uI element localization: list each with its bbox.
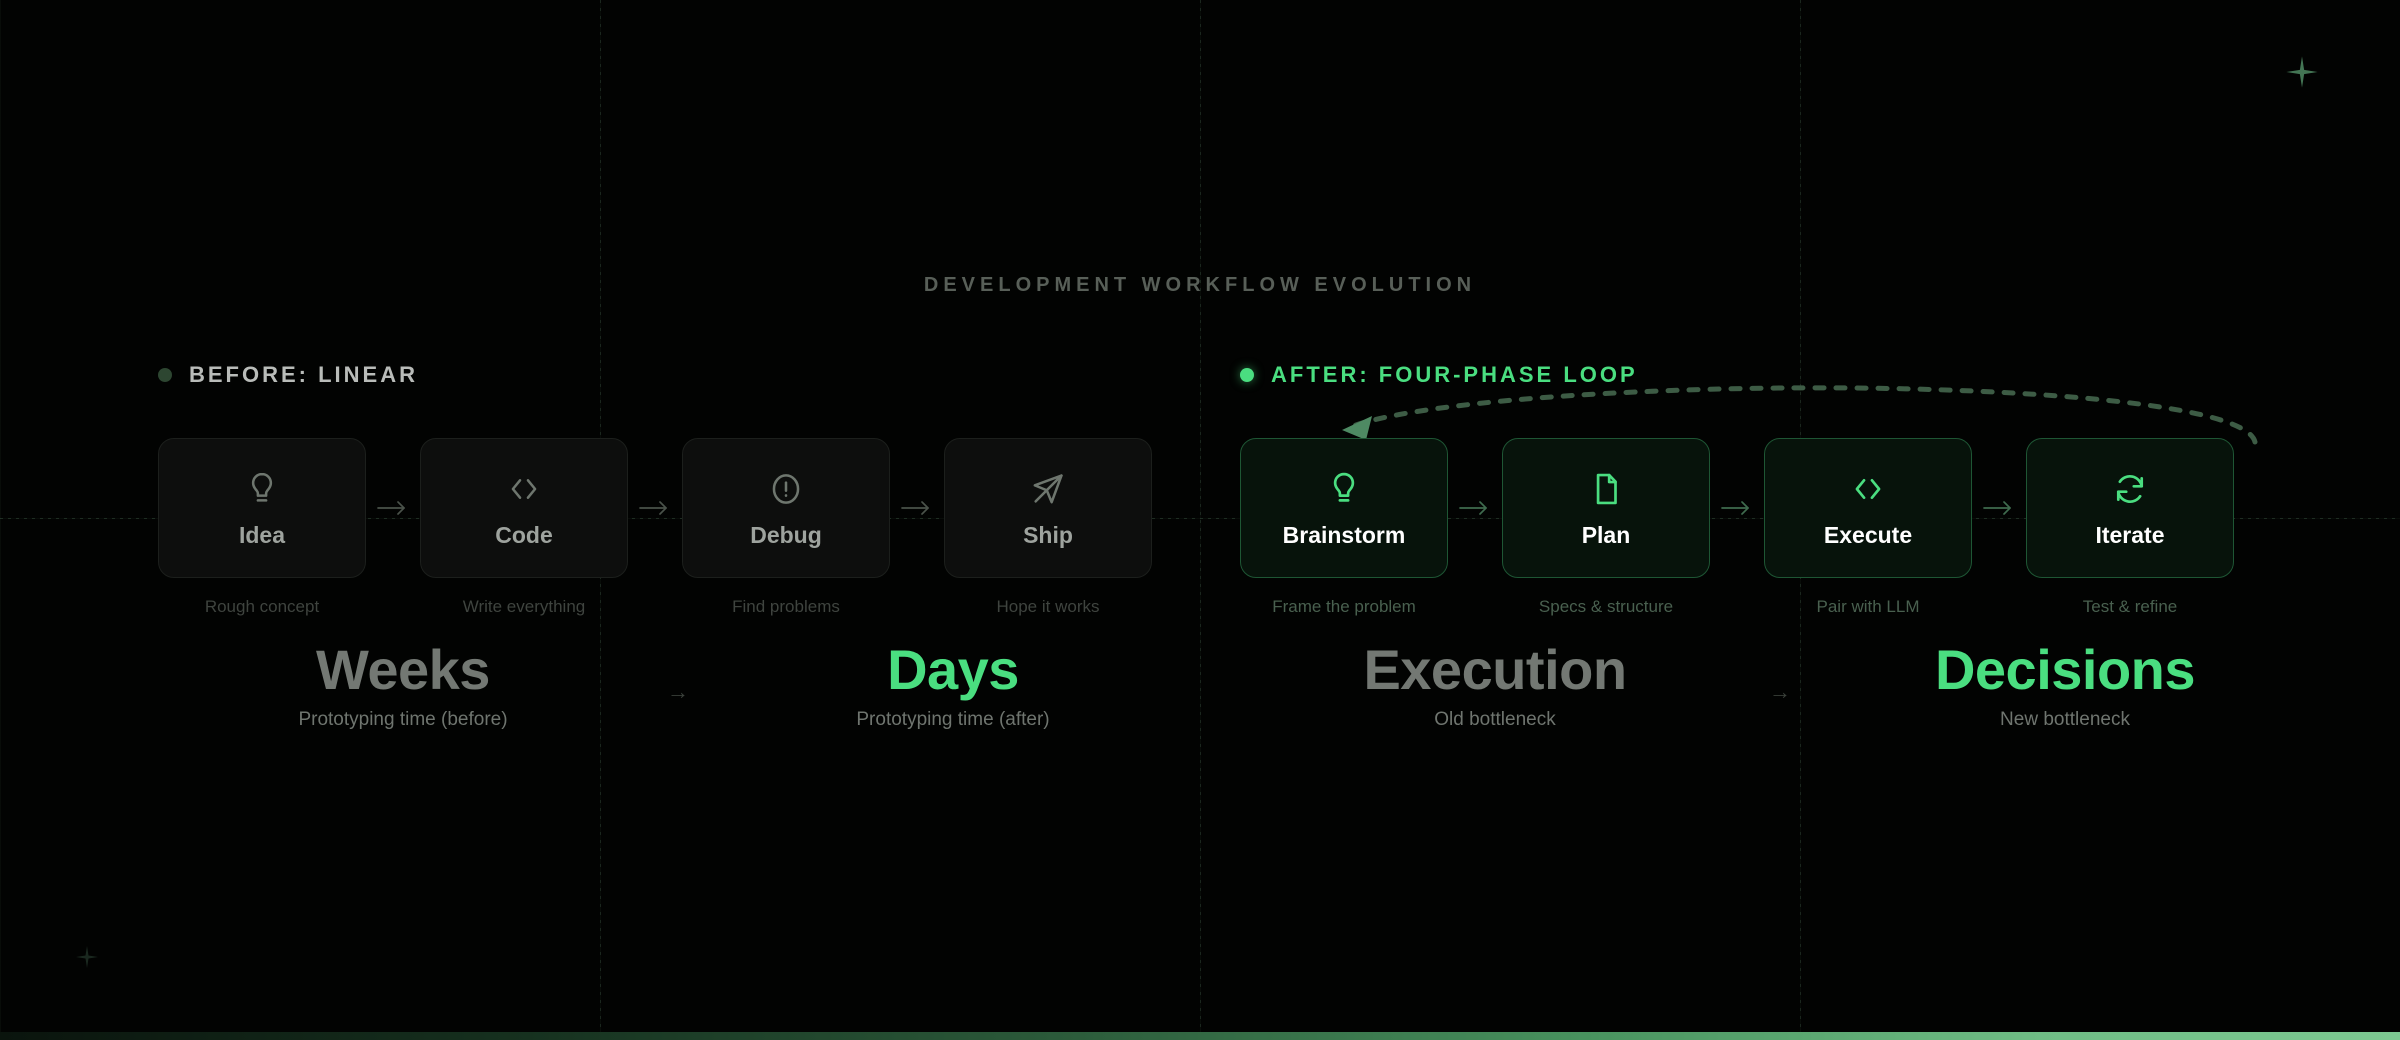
step-card-code[interactable]: Code Write everything — [420, 438, 628, 615]
metric-sublabel: Prototyping time (before) — [158, 710, 648, 729]
metric-sublabel: Old bottleneck — [1240, 710, 1750, 729]
step-card-brainstorm[interactable]: Brainstorm Frame the problem — [1240, 438, 1448, 615]
metric-old-bottleneck: Execution Old bottleneck — [1240, 640, 1750, 729]
step-card-body[interactable]: Plan — [1502, 438, 1710, 578]
status-dot-active-icon — [1240, 368, 1254, 382]
step-card-body[interactable]: Ship — [944, 438, 1152, 578]
metrics-before: Weeks Prototyping time (before) → Days P… — [158, 640, 1198, 729]
grid-dotted-line-v-2 — [1200, 0, 1201, 1040]
step-card-execute[interactable]: Execute Pair with LLM — [1764, 438, 1972, 615]
lightbulb-icon — [243, 470, 281, 508]
step-card-label: Debug — [750, 524, 822, 547]
panel-after-title: AFTER: FOUR-PHASE LOOP — [1271, 362, 1638, 388]
metric-prototyping-after: Days Prototyping time (after) — [708, 640, 1198, 729]
metrics-after: Execution Old bottleneck → Decisions New… — [1240, 640, 2320, 729]
code-brackets-icon — [505, 470, 543, 508]
step-card-label: Plan — [1582, 524, 1631, 547]
step-card-sublabel: Write everything — [463, 598, 586, 615]
metric-sublabel: Prototyping time (after) — [708, 710, 1198, 729]
sparkle-icon — [2285, 55, 2319, 94]
step-card-plan[interactable]: Plan Specs & structure — [1502, 438, 1710, 615]
metric-value: Days — [708, 640, 1198, 700]
after-steps-row: Brainstorm Frame the problem — [1240, 438, 2234, 615]
code-brackets-icon — [1849, 470, 1887, 508]
metric-value: Decisions — [1810, 640, 2320, 700]
sparkle-icon — [75, 945, 99, 974]
metric-arrow-icon: → — [648, 665, 708, 705]
step-card-body[interactable]: Code — [420, 438, 628, 578]
bottom-accent-bar — [0, 1032, 2400, 1040]
metric-sublabel: New bottleneck — [1810, 710, 2320, 729]
panel-after: AFTER: FOUR-PHASE LOOP Brainstorm — [1240, 360, 2320, 390]
panel-after-header: AFTER: FOUR-PHASE LOOP — [1240, 360, 2320, 390]
document-icon — [1587, 470, 1625, 508]
arrow-right-icon — [366, 438, 420, 578]
step-card-label: Ship — [1023, 524, 1073, 547]
metric-prototyping-before: Weeks Prototyping time (before) — [158, 640, 648, 729]
alert-circle-icon — [767, 470, 805, 508]
step-card-debug[interactable]: Debug Find problems — [682, 438, 890, 615]
metric-new-bottleneck: Decisions New bottleneck — [1810, 640, 2320, 729]
step-card-label: Code — [495, 524, 553, 547]
step-card-iterate[interactable]: Iterate Test & refine — [2026, 438, 2234, 615]
step-card-label: Execute — [1824, 524, 1912, 547]
status-dot-inactive-icon — [158, 368, 172, 382]
step-card-body[interactable]: Iterate — [2026, 438, 2234, 578]
step-card-sublabel: Pair with LLM — [1817, 598, 1920, 615]
arrow-right-icon — [890, 438, 944, 578]
step-card-body[interactable]: Execute — [1764, 438, 1972, 578]
metric-value: Execution — [1240, 640, 1750, 700]
lightbulb-icon — [1325, 470, 1363, 508]
before-steps-row: Idea Rough concept Code — [158, 438, 1152, 615]
step-card-sublabel: Rough concept — [205, 598, 319, 615]
arrow-right-icon — [1972, 438, 2026, 578]
step-card-sublabel: Test & refine — [2083, 598, 2178, 615]
metric-value: Weeks — [158, 640, 648, 700]
step-card-sublabel: Specs & structure — [1539, 598, 1673, 615]
arrow-right-icon — [1710, 438, 1764, 578]
step-card-ship[interactable]: Ship Hope it works — [944, 438, 1152, 615]
step-card-body[interactable]: Brainstorm — [1240, 438, 1448, 578]
step-card-body[interactable]: Idea — [158, 438, 366, 578]
step-card-label: Brainstorm — [1283, 524, 1406, 547]
panel-before-title: BEFORE: LINEAR — [189, 362, 418, 388]
step-card-idea[interactable]: Idea Rough concept — [158, 438, 366, 615]
arrow-right-icon — [1448, 438, 1502, 578]
refresh-cycle-icon — [2111, 470, 2149, 508]
slide-canvas: DEVELOPMENT WORKFLOW EVOLUTION BEFORE: L… — [0, 0, 2400, 1040]
arrow-right-icon — [628, 438, 682, 578]
step-card-label: Iterate — [2095, 524, 2164, 547]
step-card-sublabel: Frame the problem — [1272, 598, 1416, 615]
step-card-sublabel: Find problems — [732, 598, 840, 615]
metric-arrow-icon: → — [1750, 665, 1810, 705]
step-card-body[interactable]: Debug — [682, 438, 890, 578]
panel-before-header: BEFORE: LINEAR — [158, 360, 1208, 390]
page-title: DEVELOPMENT WORKFLOW EVOLUTION — [0, 274, 2400, 297]
send-paper-plane-icon — [1029, 470, 1067, 508]
step-card-sublabel: Hope it works — [997, 598, 1100, 615]
panel-before: BEFORE: LINEAR Idea Rough concept — [158, 360, 1208, 390]
step-card-label: Idea — [239, 524, 285, 547]
